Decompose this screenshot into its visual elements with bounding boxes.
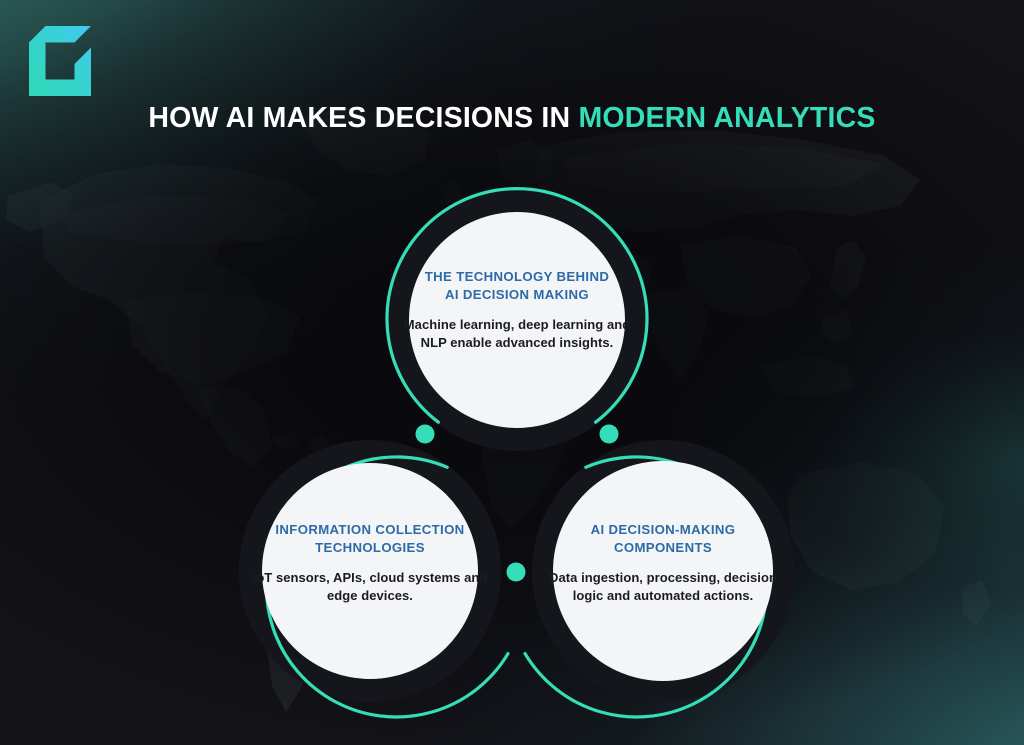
- node-ai-decision-making-components[interactable]: AI DECISION-MAKING COMPONENTS Data inges…: [543, 521, 783, 605]
- bracket-g-logo-icon[interactable]: [29, 26, 97, 96]
- node-information-collection-technologies[interactable]: INFORMATION COLLECTION TECHNOLOGIES IoT …: [250, 521, 490, 605]
- page-title: HOW AI MAKES DECISIONS IN MODERN ANALYTI…: [0, 103, 1024, 134]
- node-title: INFORMATION COLLECTION TECHNOLOGIES: [250, 521, 490, 556]
- node-title-line-2: AI DECISION MAKING: [445, 287, 589, 302]
- page-title-accent: MODERN ANALYTICS: [578, 102, 875, 134]
- node-title: THE TECHNOLOGY BEHIND AI DECISION MAKING: [395, 268, 639, 303]
- node-body: IoT sensors, APIs, cloud systems and edg…: [250, 569, 490, 604]
- node-title-line-2: TECHNOLOGIES: [315, 540, 425, 555]
- node-title-line-1: INFORMATION COLLECTION: [275, 522, 464, 537]
- node-title-line-2: COMPONENTS: [614, 540, 712, 555]
- infographic-canvas: HOW AI MAKES DECISIONS IN MODERN ANALYTI…: [0, 0, 1024, 745]
- node-body: Data ingestion, processing, decision log…: [543, 569, 783, 604]
- node-title-line-1: THE TECHNOLOGY BEHIND: [425, 269, 609, 284]
- node-title: AI DECISION-MAKING COMPONENTS: [543, 521, 783, 556]
- node-body: Machine learning, deep learning and NLP …: [395, 316, 639, 351]
- node-title-line-1: AI DECISION-MAKING: [591, 522, 736, 537]
- node-technology-behind-ai[interactable]: THE TECHNOLOGY BEHIND AI DECISION MAKING…: [395, 268, 639, 352]
- page-title-main: HOW AI MAKES DECISIONS IN: [148, 102, 578, 134]
